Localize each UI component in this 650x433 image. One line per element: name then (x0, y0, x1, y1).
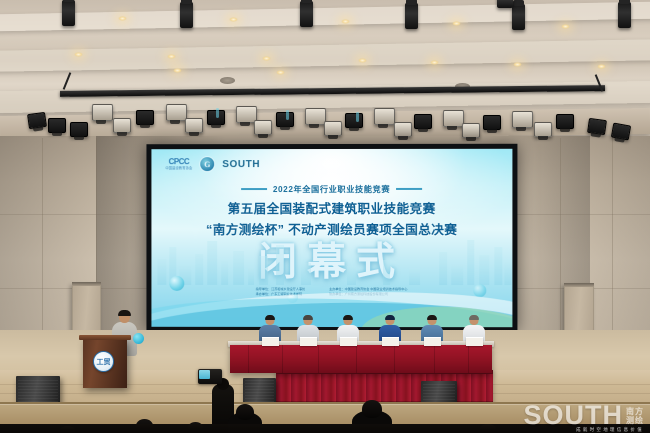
light-beam (356, 112, 359, 122)
name-card (340, 337, 357, 346)
stage-apron (0, 404, 650, 424)
screen-eyebrow-line: 2022年全国行业职业技能竞赛 (151, 183, 512, 195)
building-shape (157, 259, 166, 285)
downlight-icon (341, 19, 350, 24)
name-card (382, 337, 399, 346)
wave-graphic (151, 283, 512, 327)
door-header (72, 282, 101, 286)
led-screen: CPCC 中国建设教育协会 G SOUTH 2022年全国行业职业技能竞赛 第五… (151, 149, 512, 327)
ceiling-spot-icon (405, 3, 418, 29)
screen-heading-line1: 第五届全国装配式建筑职业技能竞赛 (151, 198, 512, 217)
camcorder-flip-screen (199, 370, 210, 379)
door-header (564, 283, 594, 287)
downlight-icon (276, 70, 285, 75)
audience-silhouette (236, 404, 254, 420)
skyline-graphic (151, 227, 512, 285)
skirt-pleat (356, 345, 357, 373)
stage-light-icon (345, 113, 363, 128)
building-shape (439, 252, 447, 285)
downlight-icon (513, 62, 522, 67)
building-shape (479, 255, 489, 285)
stage-light-icon (254, 120, 272, 135)
rule-left (241, 188, 267, 189)
ceiling-spot-icon (512, 4, 525, 30)
building-shape (383, 260, 390, 285)
stage-light-icon (587, 118, 607, 135)
stage-curtain (276, 370, 493, 404)
stage-photograph: CPCC 中国建设教育协会 G SOUTH 2022年全国行业职业技能竞赛 第五… (0, 0, 650, 433)
panelist-hair (427, 315, 437, 320)
circle-emblem-icon: G (200, 157, 214, 171)
stage-light-icon (92, 104, 113, 121)
panelist-hair (469, 315, 479, 320)
podium-emblem-icon: 工贸 (93, 351, 114, 372)
ceiling-spot-icon (497, 0, 513, 8)
south-wordmark: SOUTH (222, 159, 260, 170)
stage-light-icon (48, 118, 66, 133)
stage-light-icon (166, 104, 187, 121)
camera-lens-icon (219, 372, 228, 381)
stage-light-icon (113, 118, 131, 133)
building-shape (467, 240, 474, 285)
ceiling-beam (0, 39, 650, 72)
foreground-shadow (0, 424, 650, 433)
building-shape (233, 251, 244, 285)
watermark-tagline: 成就时空地理信息价值 (576, 427, 644, 433)
downlight-icon (262, 56, 271, 61)
cpcc-subtitle: 中国建设教育协会 (165, 167, 192, 170)
stage-light-icon (512, 111, 533, 128)
downlight-icon (167, 54, 176, 59)
name-card (300, 337, 317, 346)
building-shape (207, 241, 217, 285)
panelist-hair (303, 315, 313, 320)
light-beam (216, 108, 219, 118)
downlight-icon (173, 68, 182, 73)
stage-light-icon (305, 108, 326, 125)
stage-light-icon (70, 122, 88, 137)
stage-light-icon (27, 112, 47, 129)
building-shape (451, 264, 463, 285)
downlight-icon (74, 52, 83, 57)
downlight-icon (229, 17, 238, 22)
skirt-pleat (318, 345, 319, 373)
ceiling-beam (0, 1, 650, 31)
stage-light-icon (462, 123, 480, 138)
stage-light-icon (443, 110, 464, 127)
audience-silhouette (362, 400, 382, 418)
building-shape (276, 245, 284, 285)
smoke-detector-icon (220, 77, 235, 84)
stage-light-icon (374, 108, 395, 125)
downlight-icon (430, 60, 439, 65)
panelist-hair (265, 315, 275, 320)
ceiling-spot-icon (62, 0, 75, 26)
stage-light-icon (483, 115, 501, 130)
podium-surface (79, 335, 131, 340)
skirt-pleat (282, 345, 283, 373)
downlight-icon (561, 24, 570, 29)
stage-light-icon (534, 122, 552, 137)
stage-light-icon (185, 118, 203, 133)
name-card (424, 337, 441, 346)
building-shape (301, 263, 311, 285)
screen-eyebrow-text: 2022年全国行业职业技能竞赛 (273, 183, 390, 195)
stage-light-icon (611, 123, 631, 141)
speaking-podium: 工贸 (83, 339, 127, 388)
panelist-hair (343, 315, 353, 320)
speaker-hair (118, 310, 131, 316)
skirt-pleat (394, 345, 395, 373)
stage-light-icon (276, 112, 294, 127)
ceiling-spot-icon (180, 2, 193, 28)
cpcc-wordmark: CPCC (169, 158, 190, 166)
cpcc-logo: CPCC 中国建设教育协会 (165, 158, 192, 170)
stage-light-icon (414, 114, 432, 129)
stage-light-icon (324, 121, 342, 136)
skirt-pleat (468, 345, 469, 373)
skirt-pleat (248, 345, 249, 373)
name-card (466, 337, 483, 346)
building-shape (221, 261, 228, 285)
decorative-sphere-stage (133, 333, 144, 344)
rule-right (396, 188, 422, 189)
screen-logo-row: CPCC 中国建设教育协会 G SOUTH (165, 157, 260, 171)
name-card (262, 337, 279, 346)
building-shape (504, 262, 511, 285)
ceiling-spot-icon (300, 1, 313, 27)
building-shape (259, 256, 268, 285)
light-beam (286, 110, 289, 120)
panelist-hair (385, 315, 395, 320)
downlight-icon (597, 64, 606, 69)
skirt-pleat (434, 345, 435, 373)
downlight-icon (118, 16, 127, 21)
building-shape (494, 247, 502, 285)
downlight-icon (358, 58, 367, 63)
ceiling-spot-icon (618, 2, 631, 28)
led-screen-bezel: CPCC 中国建设教育协会 G SOUTH 2022年全国行业职业技能竞赛 第五… (146, 144, 517, 332)
building-shape (195, 254, 203, 285)
stage-light-icon (136, 110, 154, 125)
stage-light-icon (394, 122, 412, 137)
downlight-icon (452, 21, 461, 26)
head-table-skirt (230, 345, 492, 373)
stage-light-icon (556, 114, 574, 129)
